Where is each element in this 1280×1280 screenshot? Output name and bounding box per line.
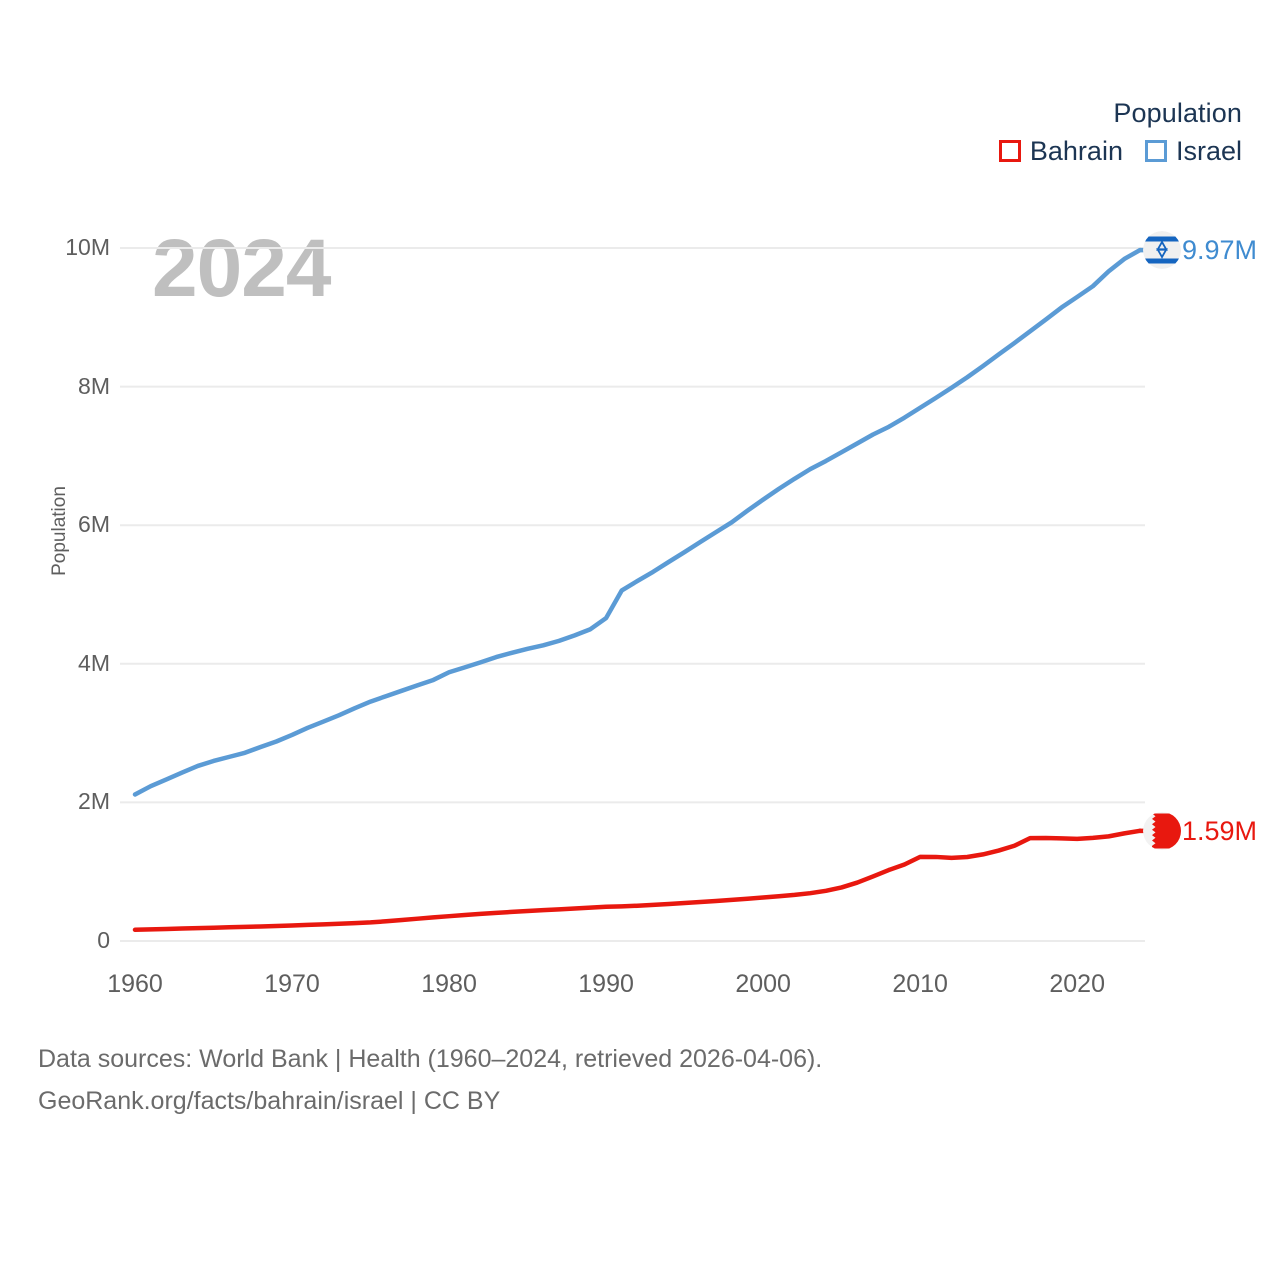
israel-flag-icon [1143, 231, 1181, 269]
series-line-bahrain [135, 831, 1140, 930]
footer-line-1: Data sources: World Bank | Health (1960–… [38, 1038, 822, 1080]
bahrain-end-value: 1.59M [1182, 817, 1257, 845]
x-axis-tick-label: 1980 [389, 972, 509, 997]
y-axis-tick-label: 6M [14, 513, 110, 536]
bahrain-flag-icon [1143, 812, 1181, 850]
footer-line-2: GeoRank.org/facts/bahrain/israel | CC BY [38, 1080, 822, 1122]
x-axis-tick-label: 2020 [1017, 972, 1137, 997]
y-axis-tick-label: 10M [14, 236, 110, 259]
x-axis-tick-label: 1960 [75, 972, 195, 997]
x-axis-tick-label: 1990 [546, 972, 666, 997]
y-axis-tick-label: 8M [14, 375, 110, 398]
y-axis-tick-label: 2M [14, 790, 110, 813]
x-axis-tick-label: 2000 [703, 972, 823, 997]
series-lines [135, 250, 1150, 930]
grid-lines [120, 248, 1145, 941]
y-axis-tick-label: 4M [14, 652, 110, 675]
chart-page: Population Bahrain Israel 2024 Populatio… [0, 0, 1280, 1280]
footer-credits: Data sources: World Bank | Health (1960–… [38, 1038, 822, 1122]
x-axis-tick-label: 1970 [232, 972, 352, 997]
x-axis-tick-label: 2010 [860, 972, 980, 997]
series-line-israel [135, 250, 1140, 794]
israel-end-value: 9.97M [1182, 236, 1257, 264]
y-axis-tick-label: 0 [14, 929, 110, 952]
